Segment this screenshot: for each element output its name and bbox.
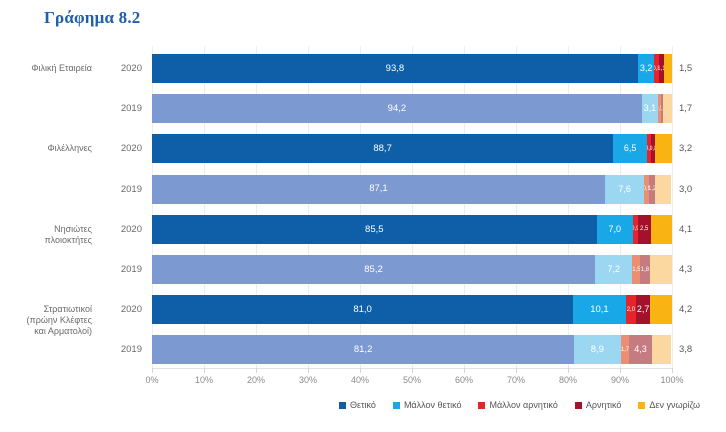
legend-item[interactable]: Μάλλον θετικό	[393, 400, 462, 410]
year-axis-label: 2019	[94, 264, 142, 275]
chart-bar-row: 94,23,10,50,5	[152, 94, 672, 123]
legend-item[interactable]: Αρνητικό	[575, 400, 622, 410]
chart-bar-row: 81,010,12,02,7	[152, 295, 672, 324]
x-axis-tick	[204, 368, 205, 373]
bar-value-label: 3,2	[679, 143, 692, 154]
bar-segment: 1,7	[621, 335, 630, 364]
legend-swatch-icon	[339, 402, 346, 409]
x-axis-tick	[308, 368, 309, 373]
bar-segment: 6,5	[613, 134, 647, 163]
chart-legend: ΘετικόΜάλλον θετικόΜάλλον αρνητικόΑρνητι…	[0, 400, 726, 410]
legend-item[interactable]: Δεν γνωρίζω	[638, 400, 700, 410]
legend-item[interactable]: Μάλλον αρνητικό	[478, 400, 557, 410]
legend-swatch-icon	[478, 402, 485, 409]
bar-segment: 1,8	[640, 255, 649, 284]
x-axis-tick	[568, 368, 569, 373]
year-axis-label: 2020	[94, 304, 142, 315]
chart-bar-row: 93,83,20,81,1	[152, 54, 672, 83]
category-axis-label: Νησιώτες πλοιοκτήτες	[10, 224, 92, 246]
x-axis-tick-label: 70%	[496, 375, 536, 385]
chart-bar-row: 81,28,91,74,3	[152, 335, 672, 364]
bar-segment	[664, 54, 672, 83]
year-axis-label: 2019	[94, 103, 142, 114]
category-axis-label: Στρατιωτικοί (πρώην Κλέφτες και Αρματολο…	[10, 304, 92, 337]
x-axis-tick	[412, 368, 413, 373]
bar-value-label: 3,0	[679, 184, 692, 195]
chart-bar-row: 85,27,21,51,8	[152, 255, 672, 284]
plot-area: 93,83,20,81,194,23,10,50,588,76,50,80,88…	[152, 46, 672, 368]
x-axis-tick-label: 30%	[288, 375, 328, 385]
bar-segment	[650, 295, 672, 324]
x-axis-tick	[360, 368, 361, 373]
bar-segment: 81,0	[152, 295, 573, 324]
bar-segment: 94,2	[152, 94, 642, 123]
bar-segment	[650, 255, 672, 284]
page-title: Γράφημα 8.2	[44, 8, 141, 28]
gridline	[672, 46, 673, 368]
bar-segment: 85,2	[152, 255, 595, 284]
bar-value-label: 1,7	[679, 103, 692, 114]
x-axis-tick	[464, 368, 465, 373]
bar-segment: 87,1	[152, 175, 605, 204]
bar-segment: 7,0	[597, 215, 633, 244]
bar-segment: 3,1	[642, 94, 658, 123]
bar-value-label: 3,8	[679, 344, 692, 355]
x-axis-tick	[516, 368, 517, 373]
bar-segment: 3,2	[638, 54, 655, 83]
x-axis-tick	[152, 368, 153, 373]
bar-segment: 1,5	[632, 255, 640, 284]
x-axis-tick-label: 50%	[392, 375, 432, 385]
bar-segment: 8,9	[574, 335, 620, 364]
bar-segment	[652, 335, 672, 364]
year-axis-label: 2020	[94, 224, 142, 235]
x-axis-tick-label: 10%	[184, 375, 224, 385]
legend-label: Αρνητικό	[586, 400, 622, 410]
bar-segment: 7,6	[605, 175, 645, 204]
bar-segment: 88,7	[152, 134, 613, 163]
bar-segment	[651, 215, 672, 244]
x-axis-tick-label: 40%	[340, 375, 380, 385]
bar-segment: 93,8	[152, 54, 638, 83]
bar-segment: 4,3	[629, 335, 651, 364]
year-axis-label: 2020	[94, 63, 142, 74]
x-axis-tick-label: 0%	[132, 375, 172, 385]
bar-segment: 10,1	[573, 295, 626, 324]
bar-segment: 7,2	[595, 255, 632, 284]
bar-segment: 81,2	[152, 335, 574, 364]
legend-label: Θετικό	[350, 400, 376, 410]
legend-swatch-icon	[393, 402, 400, 409]
legend-label: Δεν γνωρίζω	[649, 400, 700, 410]
bar-segment: 2,0	[626, 295, 636, 324]
chart-bar-row: 85,57,00,92,5	[152, 215, 672, 244]
x-axis-tick	[672, 368, 673, 373]
x-axis-tick-label: 80%	[548, 375, 588, 385]
chart-container: Γράφημα 8.2 93,83,20,81,194,23,10,50,588…	[0, 0, 726, 432]
category-axis-label: Φιλέλληνες	[10, 143, 92, 154]
chart-bar-row: 87,17,60,91,2	[152, 175, 672, 204]
bar-value-label: 4,3	[679, 264, 692, 275]
x-axis-tick-label: 20%	[236, 375, 276, 385]
legend-swatch-icon	[575, 402, 582, 409]
legend-label: Μάλλον αρνητικό	[489, 400, 557, 410]
year-axis-label: 2019	[94, 344, 142, 355]
bar-segment	[655, 175, 671, 204]
bar-value-label: 4,2	[679, 304, 692, 315]
bar-value-label: 4,1	[679, 224, 692, 235]
bar-segment: 85,5	[152, 215, 597, 244]
bar-segment	[663, 94, 672, 123]
bar-segment: 2,7	[636, 295, 650, 324]
bar-value-label: 1,5	[679, 63, 692, 74]
year-axis-label: 2020	[94, 143, 142, 154]
category-axis-label: Φιλική Εταιρεία	[10, 63, 92, 74]
x-axis-tick-label: 90%	[600, 375, 640, 385]
x-axis-tick	[256, 368, 257, 373]
bar-segment	[655, 134, 672, 163]
chart-bar-row: 88,76,50,80,8	[152, 134, 672, 163]
x-axis-tick-label: 100%	[652, 375, 692, 385]
bar-segment: 2,5	[638, 215, 651, 244]
x-axis-tick-label: 60%	[444, 375, 484, 385]
legend-item[interactable]: Θετικό	[339, 400, 376, 410]
x-axis-tick	[620, 368, 621, 373]
legend-swatch-icon	[638, 402, 645, 409]
year-axis-label: 2019	[94, 184, 142, 195]
legend-label: Μάλλον θετικό	[404, 400, 462, 410]
